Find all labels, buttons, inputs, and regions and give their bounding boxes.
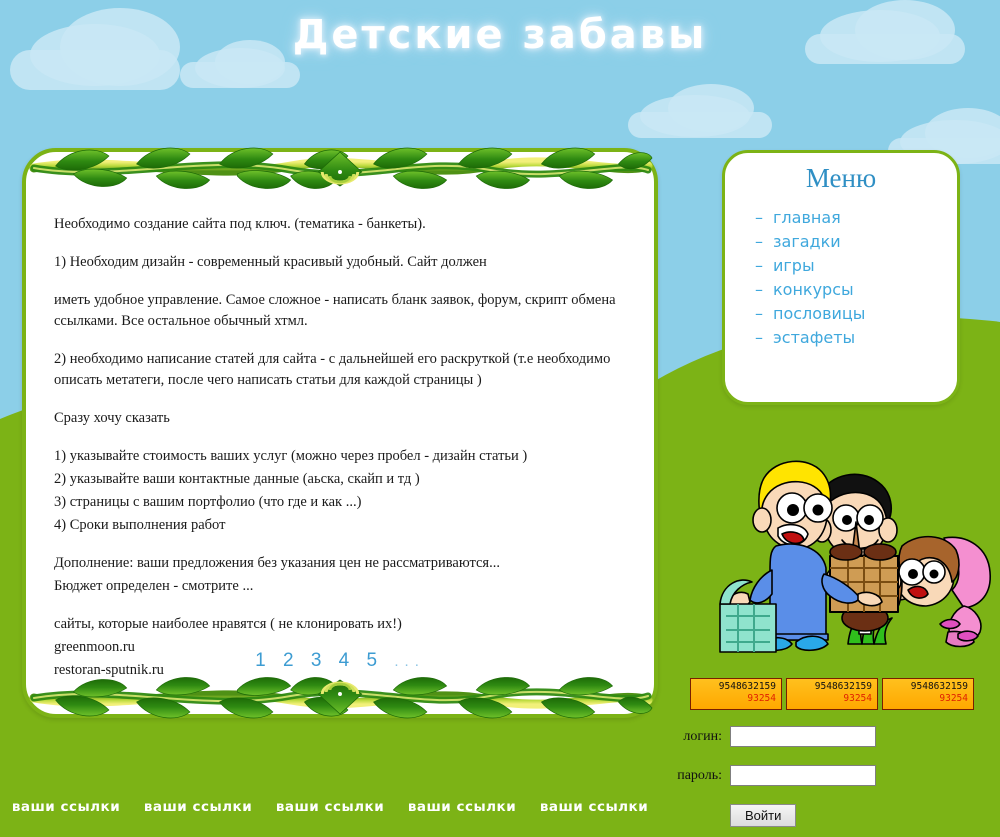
pagination-page[interactable]: 4 [339, 650, 356, 671]
menu-title: Меню [725, 163, 957, 194]
article-paragraph: Сразу хочу сказать [54, 408, 630, 429]
login-row: логин: [650, 726, 990, 747]
password-row: пароль: [650, 765, 990, 786]
counter-box[interactable]: 9548632159 93254 [786, 678, 878, 710]
pagination-page[interactable]: 3 [311, 650, 328, 671]
menu-item-label[interactable]: эстафеты [773, 328, 855, 347]
menu-item-poslovicy[interactable]: –пословицы [755, 302, 957, 326]
dash-bullet-icon: – [755, 254, 773, 278]
article-paragraph: 1) Необходим дизайн - современный красив… [54, 252, 630, 273]
menu-item-estafety[interactable]: –эстафеты [755, 326, 957, 350]
menu-item-konkursy[interactable]: –конкурсы [755, 278, 957, 302]
article-paragraph: Необходимо создание сайта под ключ. (тем… [54, 214, 630, 235]
cloud-icon [180, 62, 300, 88]
article-list-line: 3) страницы с вашим портфолио (что где и… [54, 492, 630, 513]
site-title: Детские забавы [0, 12, 1000, 58]
dash-bullet-icon: – [755, 326, 773, 350]
menu-item-zagadki[interactable]: –загадки [755, 230, 957, 254]
password-input[interactable] [730, 765, 876, 786]
children-mushroom-picking-illustration [712, 448, 996, 668]
page-root: Детские забавы [0, 0, 1000, 837]
dash-bullet-icon: – [755, 230, 773, 254]
article-list-line: 2) указывайте ваши контактные данные (аь… [54, 469, 630, 490]
pagination-more[interactable]: ... [394, 653, 425, 670]
counter-today: 93254 [691, 693, 776, 705]
dash-bullet-icon: – [755, 206, 773, 230]
menu-item-label[interactable]: конкурсы [773, 280, 854, 299]
visitor-counters: 9548632159 93254 9548632159 93254 954863… [690, 678, 976, 710]
counter-total: 9548632159 [787, 681, 872, 693]
counter-box[interactable]: 9548632159 93254 [690, 678, 782, 710]
menu-list: –главная –загадки –игры –конкурсы –посло… [755, 206, 957, 350]
counter-total: 9548632159 [691, 681, 776, 693]
cloud-icon [628, 112, 772, 138]
footer-link[interactable]: ваши ссылки [540, 799, 648, 815]
counter-box[interactable]: 9548632159 93254 [882, 678, 974, 710]
article-list-line: 4) Сроки выполнения работ [54, 515, 630, 536]
counter-today: 93254 [883, 693, 968, 705]
login-submit-button[interactable]: Войти [730, 804, 796, 827]
footer-link[interactable]: ваши ссылки [12, 799, 120, 815]
article-paragraph: 2) необходимо написание статей для сайта… [54, 349, 630, 391]
footer-link[interactable]: ваши ссылки [144, 799, 252, 815]
pagination-page[interactable]: 1 [255, 650, 272, 671]
content-panel: Необходимо создание сайта под ключ. (тем… [22, 148, 658, 718]
pagination-page[interactable]: 5 [367, 650, 384, 671]
article-sites-line: сайты, которые наиболее нравятся ( не кл… [54, 614, 630, 635]
menu-item-glavnaya[interactable]: –главная [755, 206, 957, 230]
footer-links: ваши ссылки ваши ссылки ваши ссылки ваши… [0, 799, 660, 815]
login-label: логин: [650, 729, 722, 745]
menu-item-igry[interactable]: –игры [755, 254, 957, 278]
menu-item-label[interactable]: загадки [773, 232, 841, 251]
menu-item-label[interactable]: игры [773, 256, 815, 275]
vine-border-top-icon [26, 142, 654, 190]
pagination: 1 2 3 4 5 ... [26, 650, 654, 672]
footer-link[interactable]: ваши ссылки [408, 799, 516, 815]
menu-item-label[interactable]: пословицы [773, 304, 865, 323]
counter-total: 9548632159 [883, 681, 968, 693]
login-input[interactable] [730, 726, 876, 747]
dash-bullet-icon: – [755, 278, 773, 302]
counter-today: 93254 [787, 693, 872, 705]
footer-link[interactable]: ваши ссылки [276, 799, 384, 815]
menu-item-label[interactable]: главная [773, 208, 841, 227]
password-label: пароль: [650, 768, 722, 784]
article-list-line: 1) указывайте стоимость ваших услуг (мож… [54, 446, 630, 467]
article-note-line: Дополнение: ваши предложения без указани… [54, 553, 630, 574]
article-body: Необходимо создание сайта под ключ. (тем… [54, 214, 630, 683]
dash-bullet-icon: – [755, 302, 773, 326]
article-note-line: Бюджет определен - смотрите ... [54, 576, 630, 597]
menu-panel: Меню –главная –загадки –игры –конкурсы –… [722, 150, 960, 405]
pagination-page[interactable]: 2 [283, 650, 300, 671]
article-paragraph: иметь удобное управление. Самое сложное … [54, 290, 630, 332]
login-form: логин: пароль: Войти [650, 726, 990, 827]
